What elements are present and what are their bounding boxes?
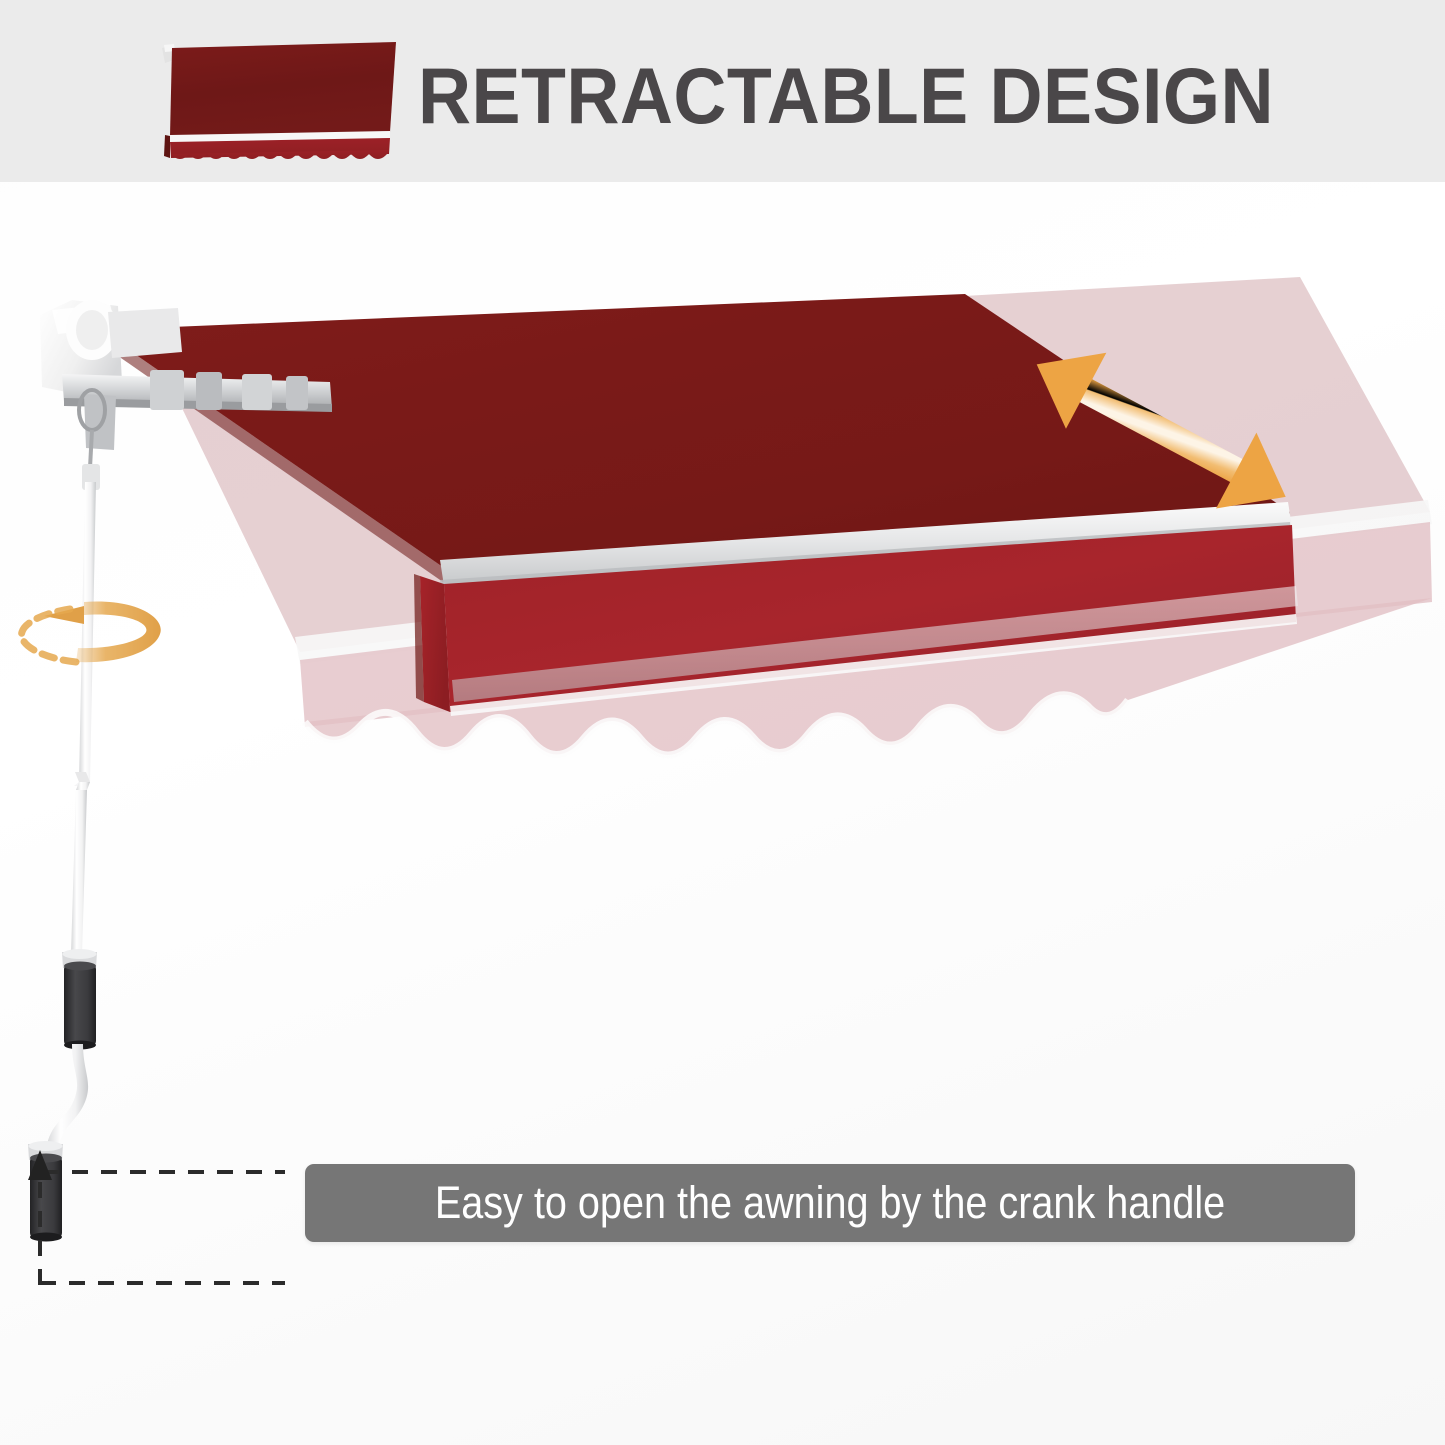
product-feature-image: RETRACTABLE DESIGN [0, 0, 1445, 1445]
retracted-awning-thumbnail-icon [150, 36, 402, 166]
leader-arrowhead-icon [28, 1150, 52, 1180]
caption-text: Easy to open the awning by the crank han… [368, 1164, 1292, 1242]
page-title: RETRACTABLE DESIGN [418, 46, 1311, 146]
dashed-leader-line [0, 182, 1445, 1445]
header-band: RETRACTABLE DESIGN [0, 0, 1445, 182]
caption-bar: Easy to open the awning by the crank han… [305, 1164, 1355, 1242]
product-illustration-stage [0, 182, 1445, 1445]
